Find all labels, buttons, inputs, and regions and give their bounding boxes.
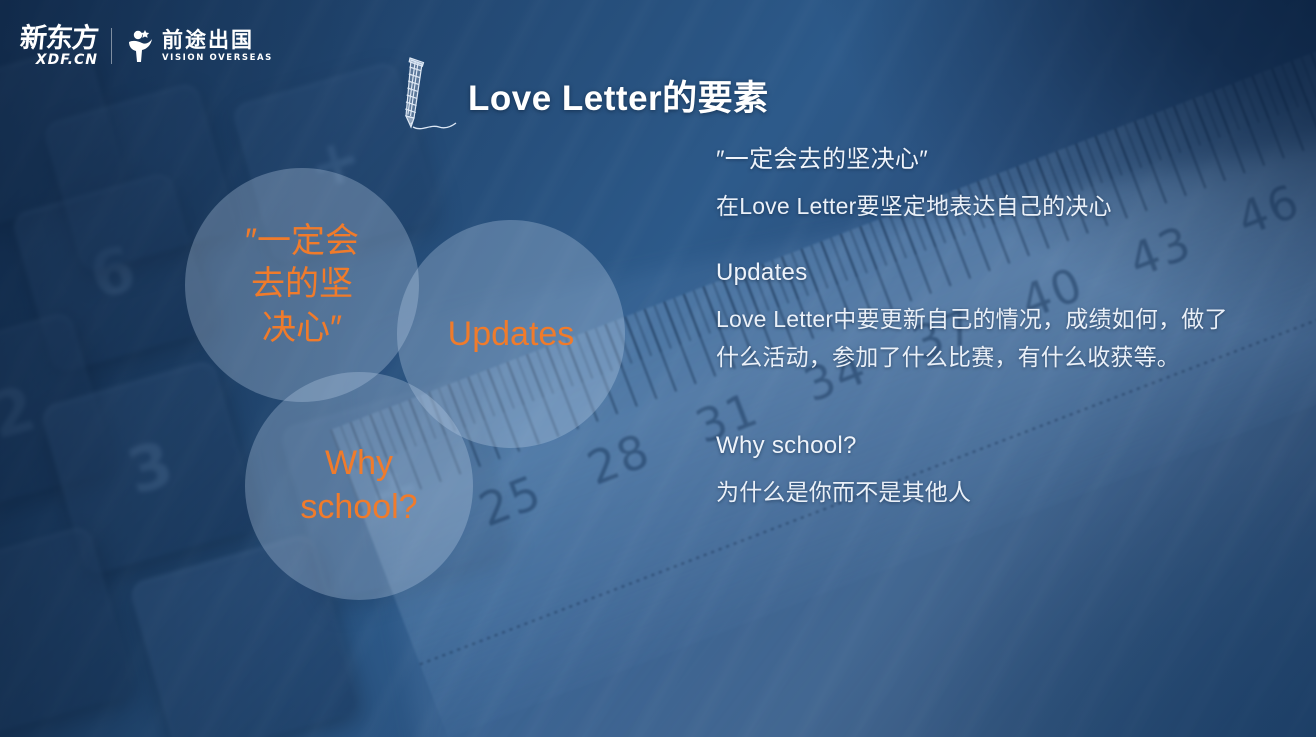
- venn-circle-updates-label: Updates: [448, 314, 575, 355]
- venn-circle-why-label: Why school?: [300, 442, 417, 529]
- content-block-updates: Updates Love Letter中要更新自己的情况，成绩如何，做了什么活动…: [716, 255, 1246, 376]
- content-block-commitment-body: 在Love Letter要坚定地表达自己的决心: [716, 188, 1246, 225]
- venn-circle-commitment-label: ″一定会 去的坚 决心″: [245, 220, 359, 351]
- content-column: ″一定会去的坚决心″ 在Love Letter要坚定地表达自己的决心 Updat…: [716, 142, 1246, 533]
- content-block-why-heading: Why school?: [716, 428, 1246, 464]
- content-block-commitment-heading: ″一定会去的坚决心″: [716, 142, 1246, 178]
- content-block-updates-body: Love Letter中要更新自己的情况，成绩如何，做了什么活动，参加了什么比赛…: [716, 301, 1246, 376]
- venn-circle-commitment[interactable]: ″一定会 去的坚 决心″: [185, 168, 419, 402]
- slide-canvas: 6 2 3 + + 25 28 31 34 37 40 43 46 49: [0, 0, 1316, 737]
- venn-diagram: ″一定会 去的坚 决心″ Updates Why school?: [0, 0, 700, 660]
- content-block-why-body: 为什么是你而不是其他人: [716, 474, 1246, 511]
- content-block-updates-heading: Updates: [716, 255, 1246, 291]
- venn-circle-why[interactable]: Why school?: [245, 372, 473, 600]
- content-block-why: Why school? 为什么是你而不是其他人: [716, 428, 1246, 511]
- content-block-commitment: ″一定会去的坚决心″ 在Love Letter要坚定地表达自己的决心: [716, 142, 1246, 225]
